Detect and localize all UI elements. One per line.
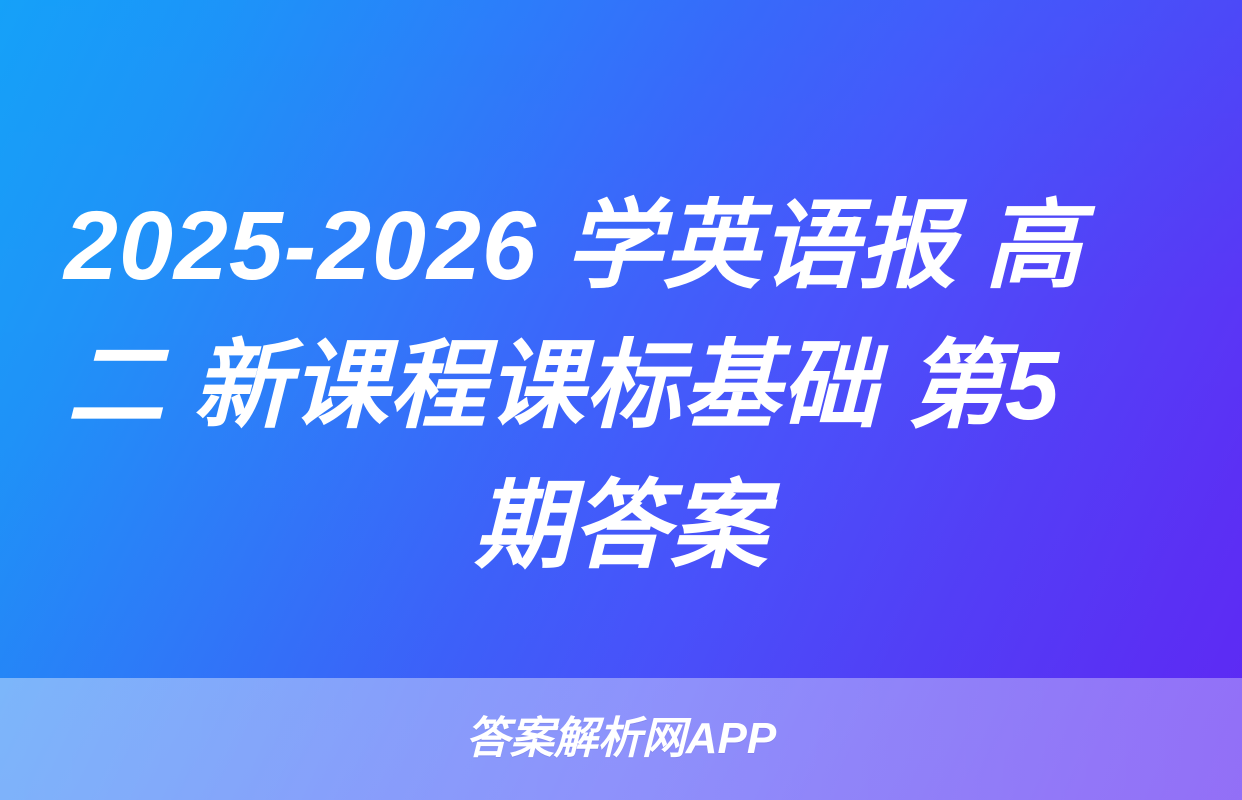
poster-title-line-1: 2025-2026 学英语报 高: [64, 176, 1178, 316]
poster-title-block: 2025-2026 学英语报 高 二 新课程课标基础 第5 期答案: [0, 176, 1242, 608]
app-brand-label: 答案解析网APP: [466, 715, 776, 763]
footer-brand-band: 答案解析网APP: [0, 678, 1242, 800]
poster-canvas: 2025-2026 学英语报 高 二 新课程课标基础 第5 期答案 答案解析网A…: [0, 0, 1242, 800]
poster-title-line-2: 二 新课程课标基础 第5: [61, 316, 1181, 456]
poster-title-line-3: 期答案: [64, 456, 1178, 596]
